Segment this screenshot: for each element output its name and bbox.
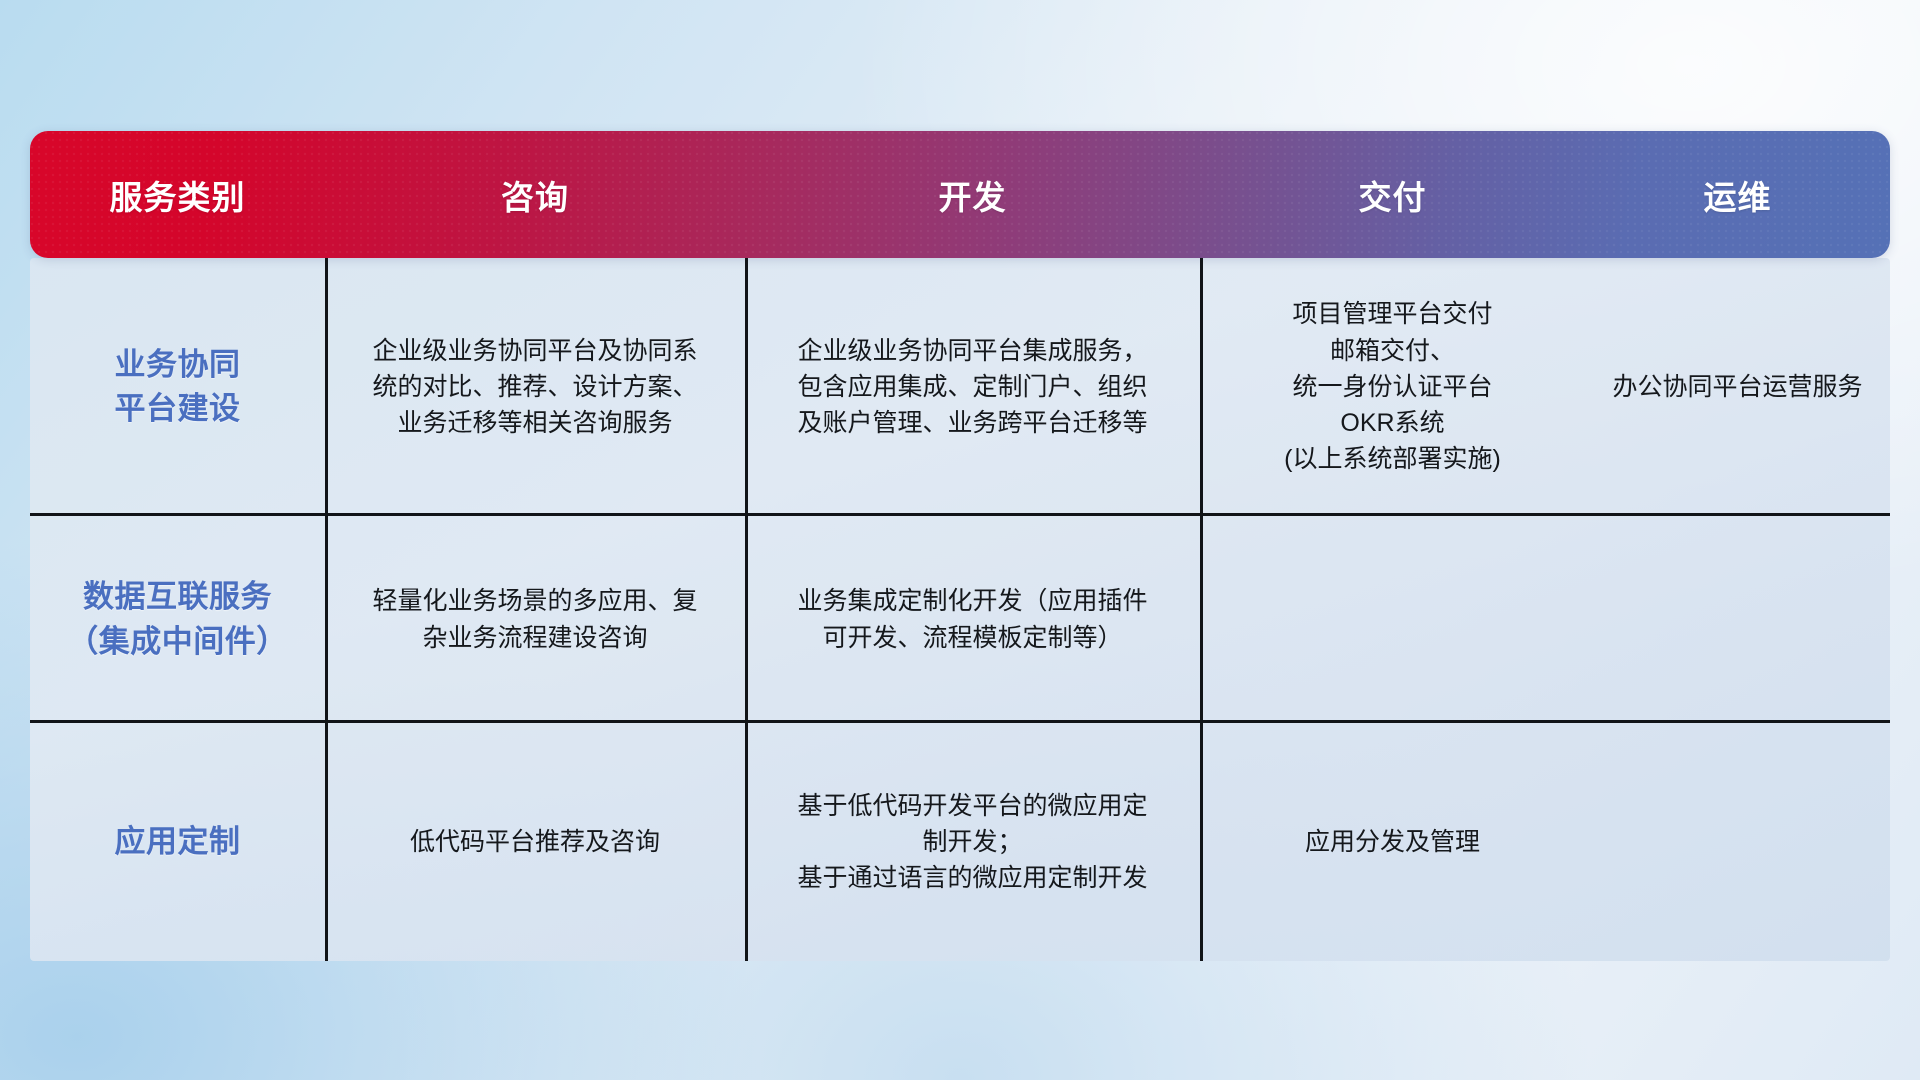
cell-r0-development: 企业级业务协同平台集成服务， 包含应用集成、定制门户、组织 及账户管理、业务跨平… (745, 258, 1200, 516)
table-body: 业务协同 平台建设 企业级业务协同平台及协同系 统的对比、推荐、设计方案、 业务… (30, 258, 1890, 961)
table-header-row: 服务类别 咨询 开发 交付 运维 (30, 131, 1890, 258)
column-header-operations: 运维 (1585, 171, 1890, 219)
row-label-cell: 数据互联服务 （集成中间件） (30, 516, 325, 723)
row-label-data-interconnect: 数据互联服务 （集成中间件） (67, 575, 288, 663)
cell-r2-consulting: 低代码平台推荐及咨询 (325, 723, 745, 961)
table-row: 数据互联服务 （集成中间件） 轻量化业务场景的多应用、复 杂业务流程建设咨询 业… (30, 516, 1890, 723)
cell-r0-consulting: 企业级业务协同平台及协同系 统的对比、推荐、设计方案、 业务迁移等相关咨询服务 (325, 258, 745, 516)
cell-r0-operations: 办公协同平台运营服务 (1585, 258, 1890, 516)
cell-r2-operations (1585, 723, 1890, 961)
row-label-business-collaboration: 业务协同 平台建设 (115, 343, 241, 431)
column-header-service-category: 服务类别 (30, 171, 325, 219)
row-label-app-customization: 应用定制 (115, 820, 241, 864)
cell-r2-development: 基于低代码开发平台的微应用定 制开发； 基于通过语言的微应用定制开发 (745, 723, 1200, 961)
column-header-delivery: 交付 (1200, 171, 1585, 219)
table-row: 应用定制 低代码平台推荐及咨询 基于低代码开发平台的微应用定 制开发； 基于通过… (30, 723, 1890, 961)
row-label-cell: 应用定制 (30, 723, 325, 961)
cell-r1-delivery (1200, 516, 1585, 723)
row-label-cell: 业务协同 平台建设 (30, 258, 325, 516)
cell-r1-development: 业务集成定制化开发（应用插件 可开发、流程模板定制等） (745, 516, 1200, 723)
cell-r1-operations (1585, 516, 1890, 723)
column-header-development: 开发 (745, 171, 1200, 219)
service-matrix-table: 服务类别 咨询 开发 交付 运维 业务协同 平台建设 企业级业务协同平台及协同系… (30, 131, 1890, 961)
table-row: 业务协同 平台建设 企业级业务协同平台及协同系 统的对比、推荐、设计方案、 业务… (30, 258, 1890, 516)
cell-r1-consulting: 轻量化业务场景的多应用、复 杂业务流程建设咨询 (325, 516, 745, 723)
cell-r2-delivery: 应用分发及管理 (1200, 723, 1585, 961)
column-header-consulting: 咨询 (325, 171, 745, 219)
cell-r0-delivery: 项目管理平台交付 邮箱交付、 统一身份认证平台 OKR系统 (以上系统部署实施) (1200, 258, 1585, 516)
